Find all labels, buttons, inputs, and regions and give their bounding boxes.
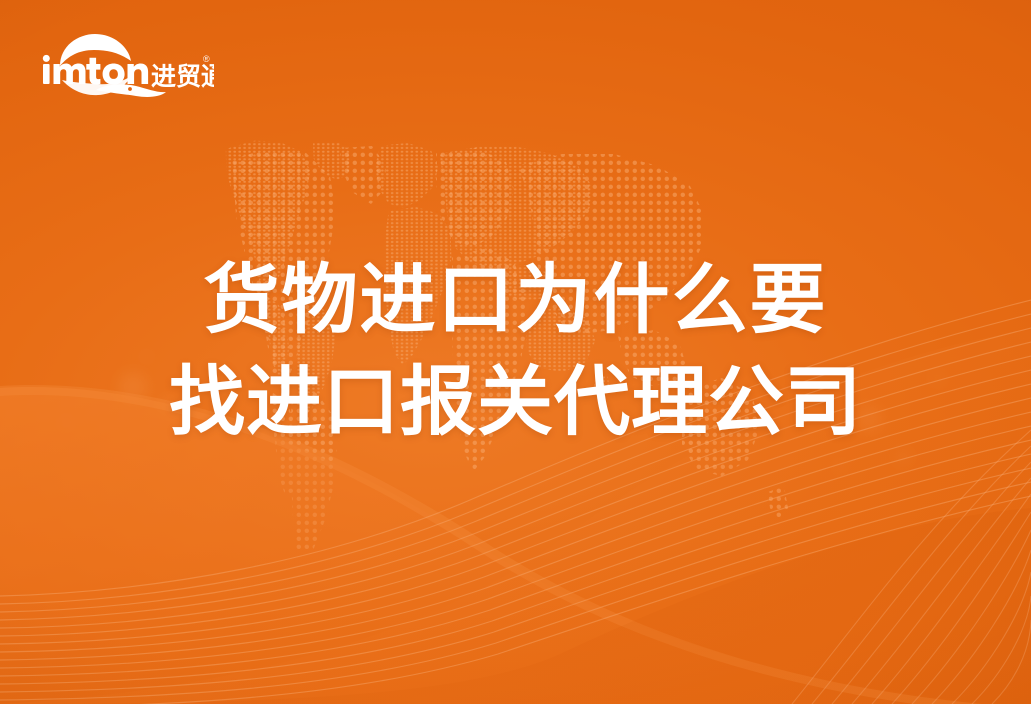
headline: 货物进口为什么要 找进口报关代理公司: [0, 250, 1031, 454]
registered-mark: ®: [203, 54, 210, 64]
headline-line-2: 找进口报关代理公司: [0, 352, 1031, 454]
promo-banner: 进贸通 ® 货物进口为什么要 找进口报关代理公司: [0, 0, 1031, 704]
headline-line-1: 货物进口为什么要: [0, 250, 1031, 352]
imton-logo[interactable]: 进贸通 ®: [38, 28, 214, 100]
logo-wordmark: [43, 55, 148, 85]
logo-chinese-name: 进贸通: [151, 62, 214, 91]
